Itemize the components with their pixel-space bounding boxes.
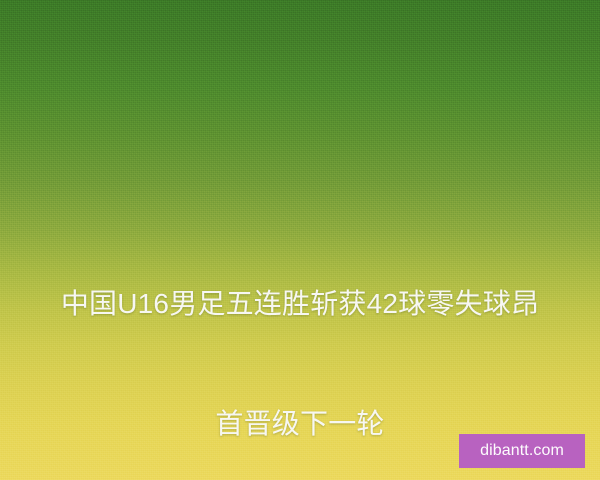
headline-line-1: 中国U16男足五连胜斩获42球零失球昂: [0, 284, 600, 324]
news-card-canvas: 中国U16男足五连胜斩获42球零失球昂 首晋级下一轮 dibantt.com: [0, 0, 600, 480]
watermark-label: dibantt.com: [480, 443, 564, 459]
watermark-badge[interactable]: dibantt.com: [459, 434, 585, 468]
